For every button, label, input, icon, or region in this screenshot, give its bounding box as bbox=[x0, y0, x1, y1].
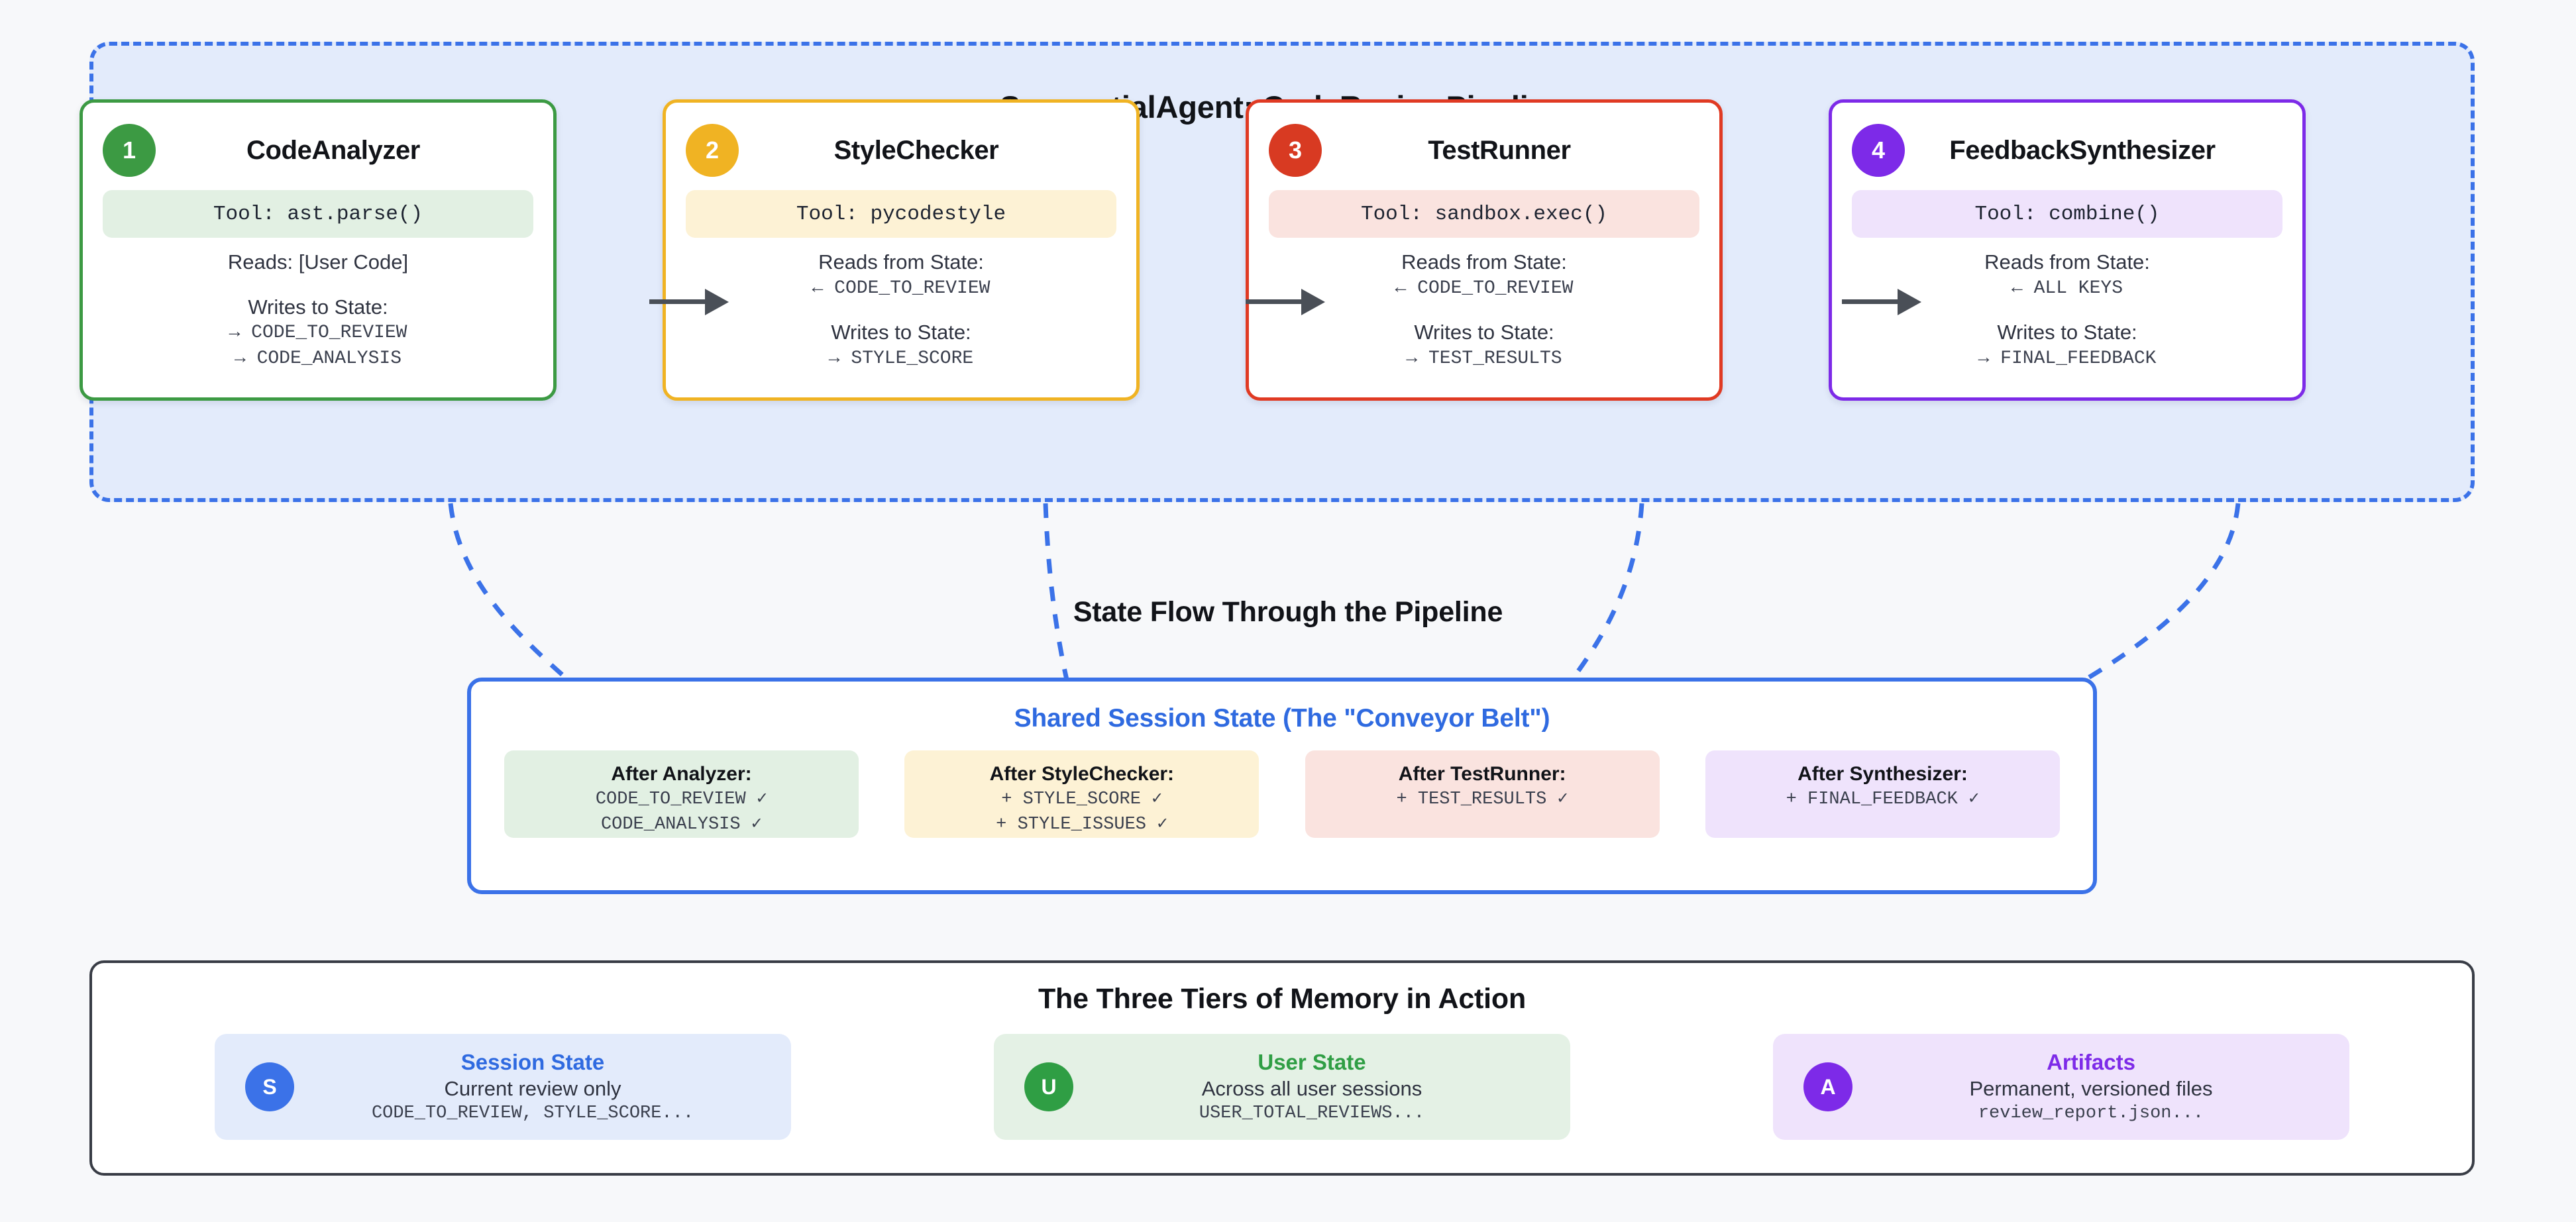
agent-tool-chip: Tool: ast.parse() bbox=[103, 190, 533, 238]
agent-tool-chip: Tool: pycodestyle bbox=[686, 190, 1116, 238]
arrow-head bbox=[1898, 289, 1921, 315]
pipeline-arrow-icon bbox=[1842, 289, 1921, 315]
state-stage-after-testrunner: After TestRunner: + TEST_RESULTS ✓ bbox=[1305, 750, 1660, 838]
writes-key: → FINAL_FEEDBACK bbox=[1852, 346, 2282, 372]
agent-card-header: 1 CodeAnalyzer bbox=[103, 120, 533, 181]
memory-tier-description: Across all user sessions bbox=[1053, 1076, 1570, 1102]
memory-tier-keys: USER_TOTAL_REVIEWS... bbox=[1053, 1102, 1570, 1125]
spacer bbox=[103, 276, 533, 293]
memory-tier-artifacts[interactable]: A Artifacts Permanent, versioned files r… bbox=[1773, 1034, 2349, 1140]
writes-key: → TEST_RESULTS bbox=[1269, 346, 1699, 372]
agent-io-body: Reads: [User Code] Writes to State: → CO… bbox=[103, 248, 533, 372]
arrow-shaft bbox=[649, 299, 708, 304]
memory-tier-text: Artifacts Permanent, versioned files rev… bbox=[1833, 1048, 2349, 1126]
memory-tier-keys: CODE_TO_REVIEW, STYLE_SCORE... bbox=[274, 1102, 791, 1125]
memory-tier-row: S Session State Current review only CODE… bbox=[92, 1015, 2472, 1140]
memory-tiers-box: The Three Tiers of Memory in Action S Se… bbox=[89, 960, 2475, 1176]
reads-label: Reads from State: bbox=[1852, 248, 2282, 276]
writes-label: Writes to State: bbox=[1852, 319, 2282, 346]
agent-card-stylechecker[interactable]: 2 StyleChecker Tool: pycodestyle Reads f… bbox=[663, 99, 1140, 401]
memory-tier-name: User State bbox=[1053, 1048, 1570, 1076]
agent-tool-chip: Tool: combine() bbox=[1852, 190, 2282, 238]
spacer bbox=[686, 301, 1116, 319]
agent-name: TestRunner bbox=[1306, 136, 1699, 166]
state-stage-key: + FINAL_FEEDBACK ✓ bbox=[1705, 787, 2060, 812]
memory-tier-keys: review_report.json... bbox=[1833, 1102, 2349, 1125]
memory-tiers-heading: The Three Tiers of Memory in Action bbox=[92, 983, 2472, 1015]
memory-tier-user-state[interactable]: U User State Across all user sessions US… bbox=[994, 1034, 1570, 1140]
memory-tier-description: Permanent, versioned files bbox=[1833, 1076, 2349, 1102]
state-stage-title: After Analyzer: bbox=[504, 761, 859, 787]
writes-key: → CODE_ANALYSIS bbox=[103, 346, 533, 372]
agent-card-header: 4 FeedbackSynthesizer bbox=[1852, 120, 2282, 181]
state-stage-after-analyzer: After Analyzer: CODE_TO_REVIEW ✓ CODE_AN… bbox=[504, 750, 859, 838]
reads-label: Reads from State: bbox=[1269, 248, 1699, 276]
arrow-shaft bbox=[1246, 299, 1304, 304]
memory-tier-text: Session State Current review only CODE_T… bbox=[274, 1048, 791, 1126]
agent-io-body: Reads from State: ← CODE_TO_REVIEW Write… bbox=[686, 248, 1116, 372]
reads-label: Reads: [User Code] bbox=[103, 248, 533, 276]
diagram-canvas: SequentialAgent: CodeReviewPipeline 1 Co… bbox=[0, 0, 2576, 1222]
state-stage-key: + TEST_RESULTS ✓ bbox=[1305, 787, 1660, 812]
agent-card-testrunner[interactable]: 3 TestRunner Tool: sandbox.exec() Reads … bbox=[1246, 99, 1723, 401]
writes-label: Writes to State: bbox=[1269, 319, 1699, 346]
state-stage-title: After StyleChecker: bbox=[904, 761, 1259, 787]
agent-card-header: 2 StyleChecker bbox=[686, 120, 1116, 181]
shared-session-state-box: Shared Session State (The "Conveyor Belt… bbox=[467, 678, 2097, 894]
agent-name: CodeAnalyzer bbox=[140, 136, 533, 166]
state-stage-title: After TestRunner: bbox=[1305, 761, 1660, 787]
arrow-head bbox=[1301, 289, 1325, 315]
memory-tier-description: Current review only bbox=[274, 1076, 791, 1102]
agent-card-feedbacksynthesizer[interactable]: 4 FeedbackSynthesizer Tool: combine() Re… bbox=[1829, 99, 2306, 401]
writes-label: Writes to State: bbox=[103, 293, 533, 321]
state-stage-title: After Synthesizer: bbox=[1705, 761, 2060, 787]
reads-key: ← CODE_TO_REVIEW bbox=[1269, 276, 1699, 302]
arrow-head bbox=[705, 289, 729, 315]
writes-key: → STYLE_SCORE bbox=[686, 346, 1116, 372]
memory-tier-name: Artifacts bbox=[1833, 1048, 2349, 1076]
spacer bbox=[1269, 301, 1699, 319]
state-flow-heading: State Flow Through the Pipeline bbox=[0, 596, 2576, 629]
memory-tier-session-state[interactable]: S Session State Current review only CODE… bbox=[215, 1034, 791, 1140]
writes-label: Writes to State: bbox=[686, 319, 1116, 346]
agent-card-codeanalyzer[interactable]: 1 CodeAnalyzer Tool: ast.parse() Reads: … bbox=[80, 99, 557, 401]
state-stage-key: CODE_TO_REVIEW ✓ bbox=[504, 787, 859, 812]
reads-key: ← CODE_TO_REVIEW bbox=[686, 276, 1116, 302]
agent-tool-chip: Tool: sandbox.exec() bbox=[1269, 190, 1699, 238]
shared-session-state-title: Shared Session State (The "Conveyor Belt… bbox=[471, 704, 2093, 733]
writes-key: → CODE_TO_REVIEW bbox=[103, 321, 533, 346]
state-stage-key: + STYLE_ISSUES ✓ bbox=[904, 812, 1259, 837]
state-stage-key: + STYLE_SCORE ✓ bbox=[904, 787, 1259, 812]
agent-name: FeedbackSynthesizer bbox=[1889, 136, 2282, 166]
pipeline-arrow-icon bbox=[1246, 289, 1325, 315]
agent-name: StyleChecker bbox=[723, 136, 1116, 166]
memory-tier-text: User State Across all user sessions USER… bbox=[1053, 1048, 1570, 1126]
state-stage-row: After Analyzer: CODE_TO_REVIEW ✓ CODE_AN… bbox=[471, 733, 2093, 838]
arrow-shaft bbox=[1842, 299, 1900, 304]
state-stage-after-stylechecker: After StyleChecker: + STYLE_SCORE ✓ + ST… bbox=[904, 750, 1259, 838]
pipeline-arrow-icon bbox=[649, 289, 729, 315]
state-stage-key: CODE_ANALYSIS ✓ bbox=[504, 812, 859, 837]
memory-tier-name: Session State bbox=[274, 1048, 791, 1076]
agent-card-header: 3 TestRunner bbox=[1269, 120, 1699, 181]
reads-label: Reads from State: bbox=[686, 248, 1116, 276]
agent-cards-row: 1 CodeAnalyzer Tool: ast.parse() Reads: … bbox=[80, 99, 2306, 414]
agent-io-body: Reads from State: ← CODE_TO_REVIEW Write… bbox=[1269, 248, 1699, 372]
state-stage-after-synthesizer: After Synthesizer: + FINAL_FEEDBACK ✓ bbox=[1705, 750, 2060, 838]
